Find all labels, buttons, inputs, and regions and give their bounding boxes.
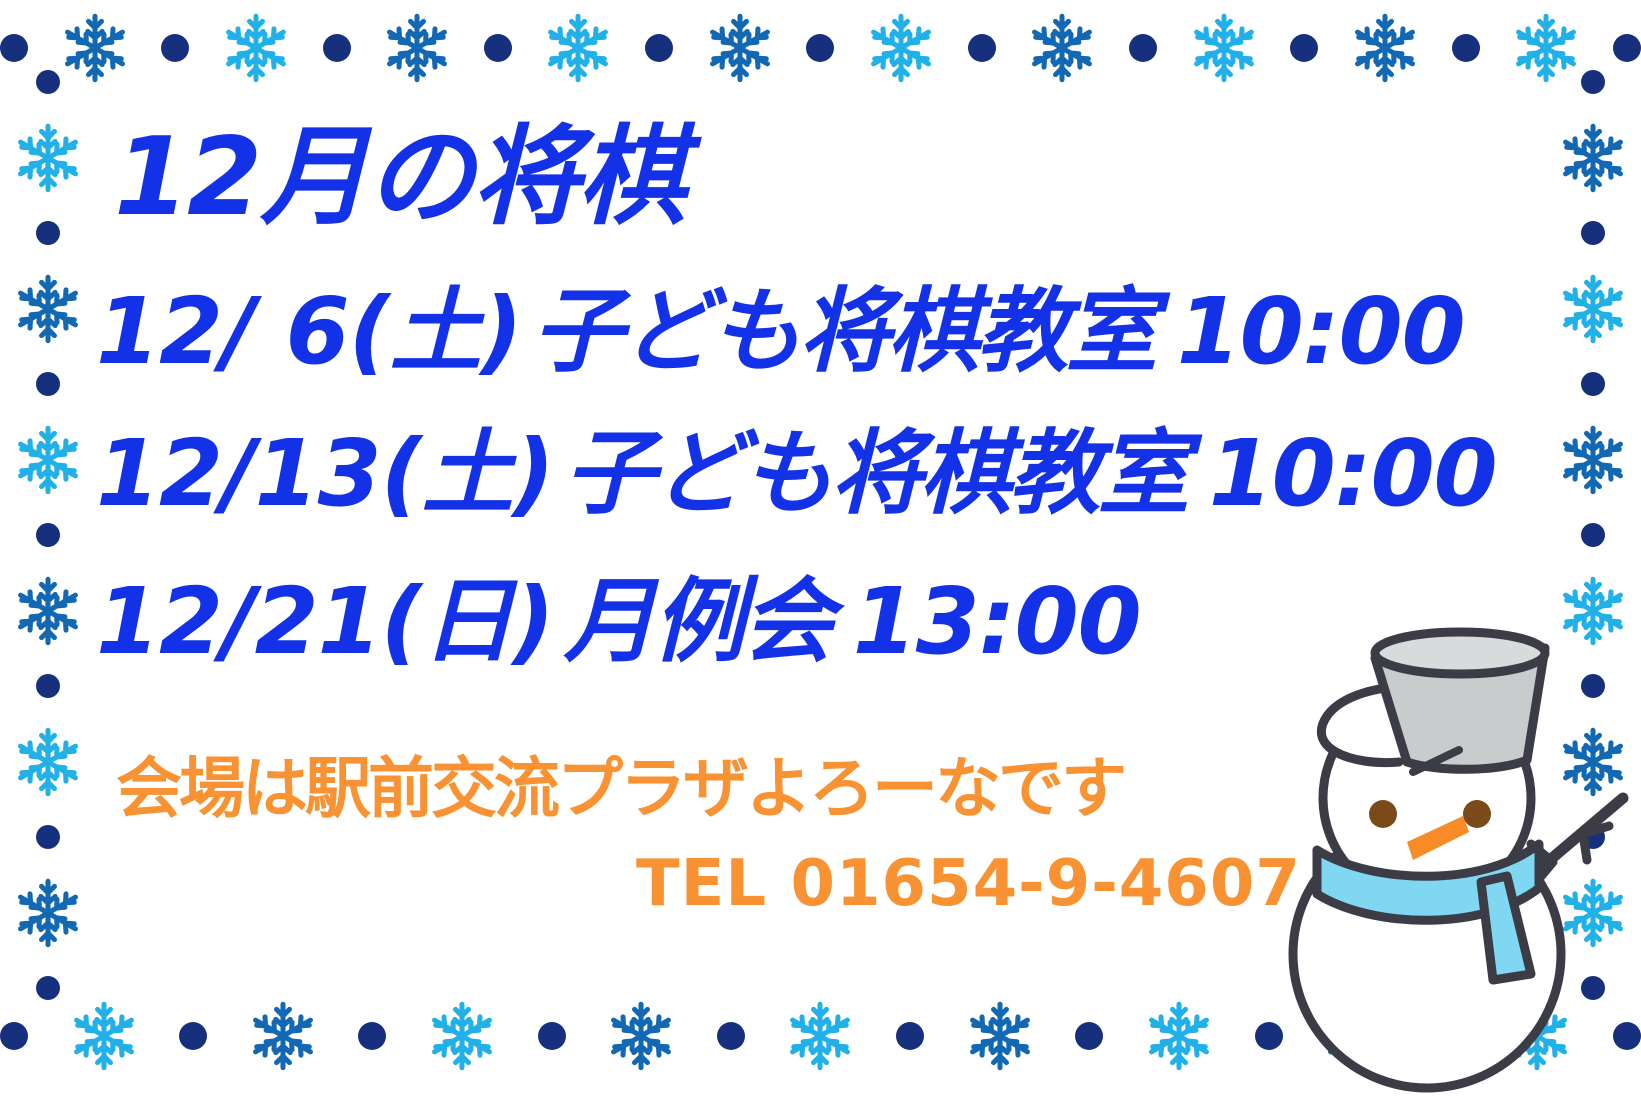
snowflake-icon [704,12,776,84]
snowflake-icon [426,1000,498,1072]
snowflake-icon [247,1000,319,1072]
border-dot [36,372,60,396]
snowflake-icon [1026,12,1098,84]
border-dot [1290,34,1318,62]
border-dot [484,34,512,62]
border-dot [323,34,351,62]
border-dot [1581,70,1605,94]
snowflake-icon [865,12,937,84]
schedule-time: 13:00 [853,576,1141,668]
snowflake-icon [12,273,84,345]
snowflake-icon [381,12,453,84]
snowflake-icon [1557,273,1629,345]
poster-content: 12月の将棋 12/ 6(土) 子ども将棋教室 10:00 12/13(土) 子… [96,96,1545,976]
snowflake-icon [1349,12,1421,84]
border-dot [161,34,189,62]
snowflake-icon [784,1000,856,1072]
border-left [0,70,96,1000]
border-dot [538,1022,566,1050]
schedule-date: 12/13(土) [96,428,554,520]
border-dot [36,825,60,849]
border-dot [1075,1022,1103,1050]
border-dot [358,1022,386,1050]
border-dot [36,523,60,547]
border-dot [1581,523,1605,547]
border-dot [0,1022,28,1050]
snowflake-icon [1557,424,1629,496]
border-dot [1613,34,1641,62]
snowflake-icon [68,1000,140,1072]
schedule-event: 月例会 [564,576,831,668]
snowflake-icon [542,12,614,84]
border-top [0,0,1641,96]
snowflake-icon [1188,12,1260,84]
border-dot [1581,221,1605,245]
snowflake-icon [12,575,84,647]
telephone-text: TEL 01654-9-4607 [636,852,1301,916]
schedule-event: 子ども将棋教室 [532,286,1155,378]
border-dot [1129,34,1157,62]
snowflake-icon [1557,122,1629,194]
schedule-row-2: 12/13(土) 子ども将棋教室 10:00 [96,428,1497,520]
border-dot [179,1022,207,1050]
border-dot [36,221,60,245]
border-dot [36,70,60,94]
snowflake-icon [964,1000,1036,1072]
border-dot [806,34,834,62]
snowflake-icon [220,12,292,84]
snowflake-icon [12,122,84,194]
schedule-time: 10:00 [1209,428,1497,520]
page-title: 12月の将棋 [114,124,684,232]
schedule-date: 12/21(日) [96,576,554,668]
border-dot [1581,372,1605,396]
border-dot [36,976,60,1000]
poster-canvas: 12月の将棋 12/ 6(土) 子ども将棋教室 10:00 12/13(土) 子… [0,0,1641,1096]
border-dot [36,674,60,698]
schedule-time: 10:00 [1177,286,1465,378]
border-dot [0,34,28,62]
schedule-event: 子ども将棋教室 [564,428,1187,520]
schedule-row-3: 12/21(日) 月例会 13:00 [96,576,1141,668]
border-dot [896,1022,924,1050]
snowflake-icon [12,877,84,949]
border-dot [645,34,673,62]
venue-text: 会場は駅前交流プラザよろーなです [116,756,1124,822]
schedule-date: 12/ 6(土) [96,286,522,378]
snowflake-icon [605,1000,677,1072]
snowflake-icon [12,424,84,496]
border-dot [1452,34,1480,62]
border-dot [968,34,996,62]
snowflake-icon [1143,1000,1215,1072]
schedule-row-1: 12/ 6(土) 子ども将棋教室 10:00 [96,286,1465,378]
snowflake-icon [12,726,84,798]
border-dot [717,1022,745,1050]
